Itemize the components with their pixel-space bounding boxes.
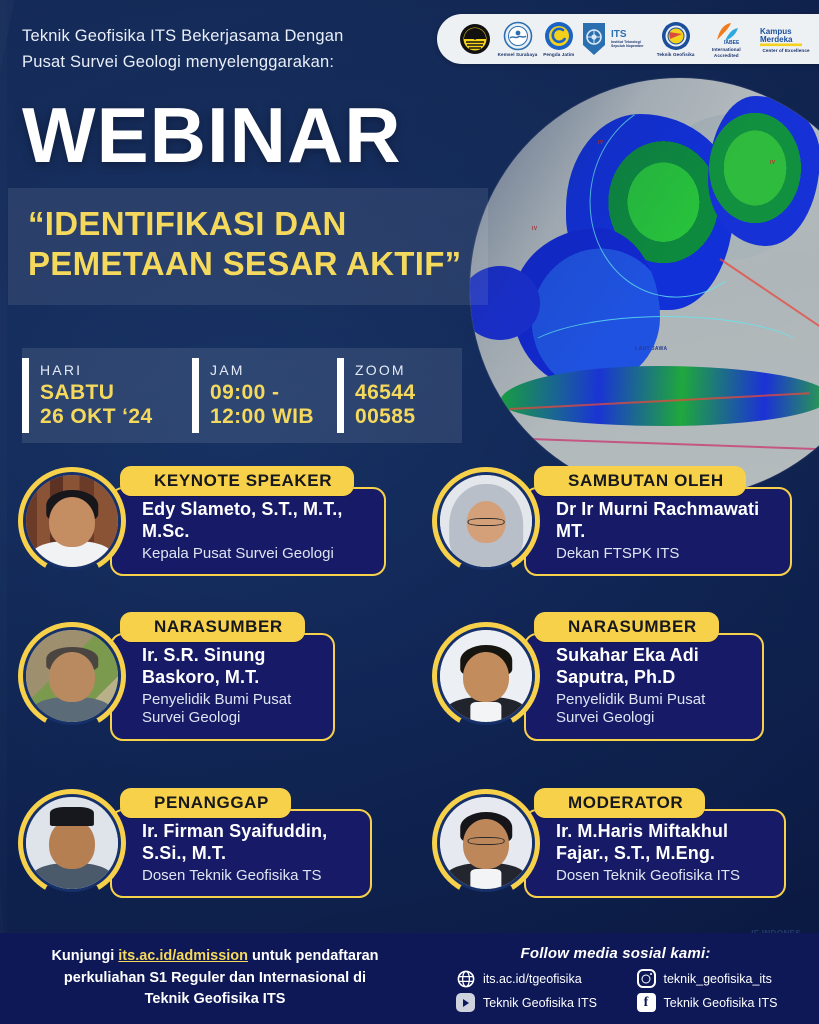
portrait-edy-slameto [26,475,118,567]
globe-icon [456,969,475,988]
portrait-sukahar-eka-adi-saputra [440,630,532,722]
speaker-name: Ir. M.Haris Miftakhul Fajar., S.T., M.En… [556,821,768,864]
footer: Kunjungi its.ac.id/admission untuk penda… [0,933,819,1024]
speaker-card: KEYNOTE SPEAKER Edy Slameto, S.T., M.T.,… [18,466,386,576]
webinar-poster: LAUT JAWA IV IV IV IF INDONES Teknik Geo… [0,0,819,1024]
speaker-affiliation: Dosen Teknik Geofisika ITS [556,867,768,885]
event-time-value-2: 12:00 WIB [210,405,314,429]
pengda-jatim-caption: Pengda Jatim [543,52,574,58]
youtube-icon [456,993,475,1012]
international-accredited-caption: International Accredited [700,47,752,58]
speaker-info: SAMBUTAN OLEH Dr Ir Murni Rachmawati MT.… [524,466,792,576]
teknik-geofisika-caption: Teknik Geofisika [657,52,695,58]
accent-bar [22,358,29,433]
admission-line-3: Teknik Geofisika ITS [14,989,416,1011]
speaker-name-box: Sukahar Eka Adi Saputra, Ph.D Penyelidik… [524,633,764,741]
facebook-icon: f [637,993,656,1012]
speaker-affiliation: Dosen Teknik Geofisika TS [142,867,354,885]
svg-text:IABEE: IABEE [724,40,740,46]
speaker-info: MODERATOR Ir. M.Haris Miftakhul Fajar., … [524,788,786,898]
subtitle-panel: “IDENTIFIKASI DAN PEMETAAN SESAR AKTIF” [8,188,488,305]
header-line-2: Pusat Survei Geologi menyelenggarakan: [22,50,442,76]
event-day-value-1: SABTU [40,381,153,405]
speaker-role-badge: MODERATOR [534,788,705,818]
event-zoom-block: ZOOM 46544 00585 [337,348,462,443]
speaker-role-badge: NARASUMBER [120,612,305,642]
admission-note: Kunjungi its.ac.id/admission untuk penda… [0,946,430,1011]
speaker-name: Ir. Firman Syaifuddin, S.Si., M.T. [142,821,354,864]
social-label-facebook: Teknik Geofisika ITS [664,996,778,1010]
speaker-name: Edy Slameto, S.T., M.T., M.Sc. [142,499,368,542]
speaker-role-badge: PENANGGAP [120,788,291,818]
speaker-card: PENANGGAP Ir. Firman Syaifuddin, S.Si., … [18,788,372,898]
social-section: Follow media sosial kami: its.ac.id/tgeo… [430,945,819,1012]
speaker-affiliation: Penyelidik Bumi Pusat Survei Geologi [142,691,317,728]
portrait-murni-rachmawati [440,475,532,567]
social-label-youtube: Teknik Geofisika ITS [483,996,597,1010]
iagi-logo-mark [458,22,492,56]
svg-text:Merdeka: Merdeka [760,35,793,44]
avatar-ring [18,467,126,575]
its-logo-subtext: Institut Teknologi Sepuluh Nopember [611,40,651,49]
speaker-affiliation: Kepala Pusat Survei Geologi [142,545,368,563]
speaker-role-badge: SAMBUTAN OLEH [534,466,746,496]
portrait-firman-syaifuddin [26,797,118,889]
admission-prefix: Kunjungi [51,948,118,964]
iabee-logo-mark: IABEE [711,20,741,46]
speaker-name-box: Ir. Firman Syaifuddin, S.Si., M.T. Dosen… [110,809,372,898]
admission-link[interactable]: its.ac.id/admission [118,948,248,964]
speaker-card: SAMBUTAN OLEH Dr Ir Murni Rachmawati MT.… [432,466,792,576]
partner-logo-bar: Kemsel Surabaya Pengda Jatim ITS Institu… [437,14,819,64]
kampus-merdeka-caption: Center of Excellence [762,48,809,54]
admission-line-1: Kunjungi its.ac.id/admission untuk penda… [14,946,416,968]
avatar [437,627,535,725]
social-link-youtube[interactable]: Teknik Geofisika ITS [456,993,621,1012]
event-zoom-label: ZOOM [355,362,415,378]
portrait-haris-miftakhul-fajar [440,797,532,889]
event-day-block: HARI SABTU 26 OKT ‘24 [22,348,192,443]
header-intro: Teknik Geofisika ITS Bekerjasama Dengan … [22,24,442,75]
admission-line-2: perkuliahan S1 Reguler dan Internasional… [14,968,416,990]
accent-bar [192,358,199,433]
avatar-ring [18,789,126,897]
iagi-logo [458,22,492,57]
avatar-ring [432,467,540,575]
teknik-geofisika-logo-mark [661,21,691,51]
speaker-name: Ir. S.R. Sinung Baskoro, M.T. [142,645,317,688]
speaker-card: MODERATOR Ir. M.Haris Miftakhul Fajar., … [432,788,786,898]
social-links: its.ac.id/tgeofisika teknik_geofisika_it… [430,969,801,1012]
social-link-facebook[interactable]: f Teknik Geofisika ITS [637,993,802,1012]
event-info-bar: HARI SABTU 26 OKT ‘24 JAM 09:00 - 12:00 … [22,348,462,443]
speaker-name: Sukahar Eka Adi Saputra, Ph.D [556,645,746,688]
event-day-value-2: 26 OKT ‘24 [40,405,153,429]
avatar [23,472,121,570]
pengda-jatim-logo-mark [544,21,574,51]
header-line-1: Teknik Geofisika ITS Bekerjasama Dengan [22,24,442,50]
pengda-jatim-logo: Pengda Jatim [543,21,574,58]
kemsel-surabaya-logo: Kemsel Surabaya [498,21,538,58]
speaker-name-box: Edy Slameto, S.T., M.T., M.Sc. Kepala Pu… [110,487,386,576]
speaker-role-badge: KEYNOTE SPEAKER [120,466,354,496]
event-zoom-value-2: 00585 [355,405,415,429]
instagram-icon [637,969,656,988]
kemsel-surabaya-logo-mark [503,21,533,51]
avatar-ring [432,789,540,897]
avatar-ring [432,622,540,730]
social-label-website: its.ac.id/tgeofisika [483,972,582,986]
webinar-subtitle: “IDENTIFIKASI DAN PEMETAAN SESAR AKTIF” [28,204,470,285]
speaker-info: NARASUMBER Sukahar Eka Adi Saputra, Ph.D… [524,612,764,741]
social-link-website[interactable]: its.ac.id/tgeofisika [456,969,621,988]
social-label-instagram: teknik_geofisika_its [664,972,772,986]
avatar [437,472,535,570]
its-logo-text: ITS [611,30,651,40]
social-link-instagram[interactable]: teknik_geofisika_its [637,969,802,988]
kampus-merdeka-logo-mark: Kampus Merdeka [758,25,814,47]
speaker-info: KEYNOTE SPEAKER Edy Slameto, S.T., M.T.,… [110,466,386,576]
indonesia-fault-map: LAUT JAWA IV IV IV [470,78,819,498]
admission-suffix: untuk pendaftaran [248,948,379,964]
event-time-value-1: 09:00 - [210,381,314,405]
speaker-info: NARASUMBER Ir. S.R. Sinung Baskoro, M.T.… [110,612,335,741]
avatar [23,627,121,725]
teknik-geofisika-logo: Teknik Geofisika [657,21,695,58]
event-time-label: JAM [210,362,314,378]
page-title: WEBINAR [22,96,402,174]
speaker-name-box: Ir. S.R. Sinung Baskoro, M.T. Penyelidik… [110,633,335,741]
event-zoom-value-1: 46544 [355,381,415,405]
speaker-info: PENANGGAP Ir. Firman Syaifuddin, S.Si., … [110,788,372,898]
avatar [23,794,121,892]
speaker-affiliation: Dekan FTSPK ITS [556,545,774,563]
speaker-affiliation: Penyelidik Bumi Pusat Survei Geologi [556,691,746,728]
speaker-name-box: Dr Ir Murni Rachmawati MT. Dekan FTSPK I… [524,487,792,576]
speaker-role-badge: NARASUMBER [534,612,719,642]
map-edge-fade [470,78,819,498]
kampus-merdeka-logo: Kampus Merdeka Center of Excellence [758,25,814,54]
event-time-block: JAM 09:00 - 12:00 WIB [192,348,337,443]
speaker-card: NARASUMBER Ir. S.R. Sinung Baskoro, M.T.… [18,612,335,741]
event-day-label: HARI [40,362,153,378]
avatar-ring [18,622,126,730]
international-accredited-logo: IABEE International Accredited [700,20,752,58]
accent-bar [337,358,344,433]
speaker-name: Dr Ir Murni Rachmawati MT. [556,499,774,542]
speaker-card: NARASUMBER Sukahar Eka Adi Saputra, Ph.D… [432,612,764,741]
its-logo: ITS Institut Teknologi Sepuluh Nopember [580,21,651,57]
speaker-name-box: Ir. M.Haris Miftakhul Fajar., S.T., M.En… [524,809,786,898]
follow-title: Follow media sosial kami: [430,945,801,962]
kemsel-surabaya-caption: Kemsel Surabaya [498,52,538,58]
avatar [437,794,535,892]
its-logo-mark [580,21,608,57]
portrait-sinung-baskoro [26,630,118,722]
